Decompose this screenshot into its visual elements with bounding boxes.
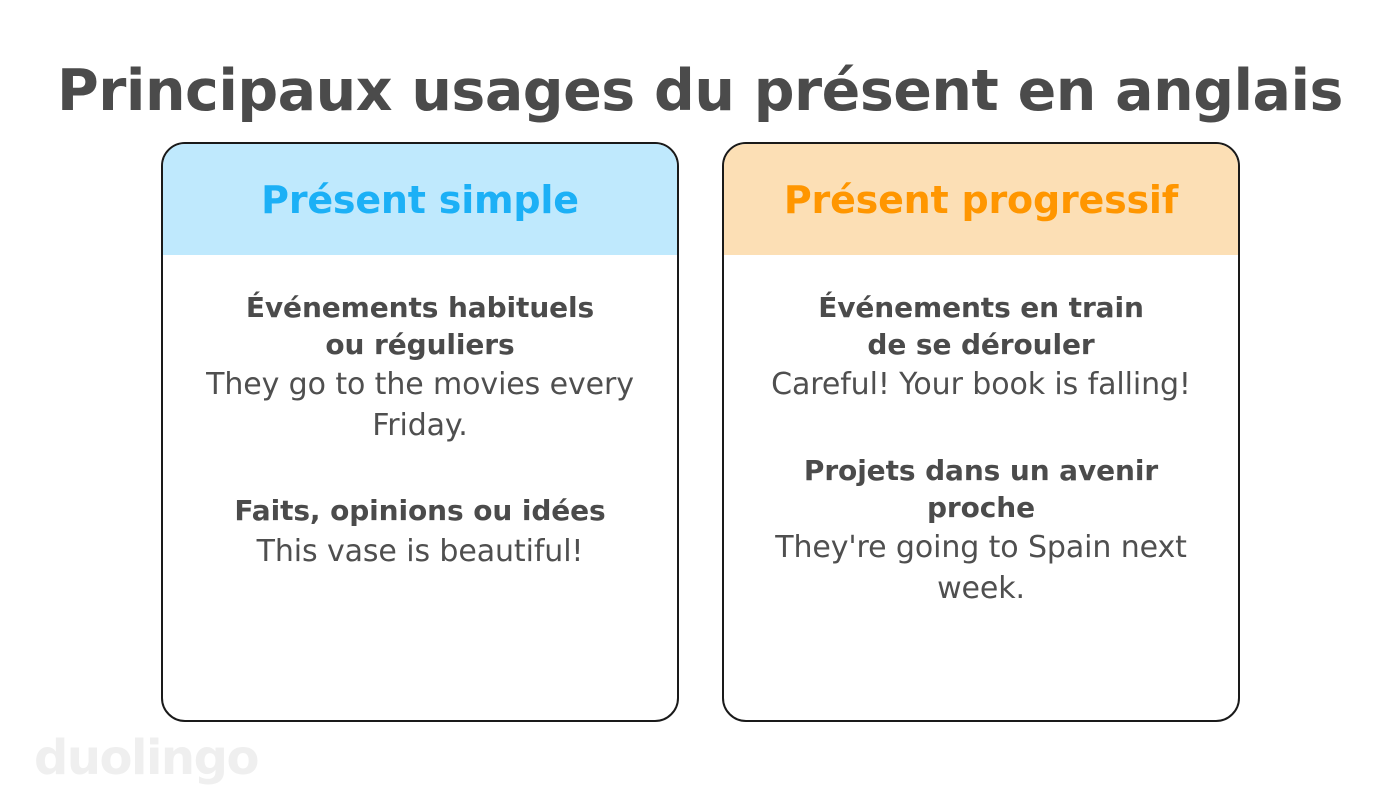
- usage-example: Careful! Your book is falling!: [752, 365, 1210, 406]
- usage-title: Événements habituels ou réguliers: [191, 289, 649, 363]
- card-body-present-progressive: Événements en train de se dérouler Caref…: [724, 255, 1238, 720]
- usage-block: Événements en train de se dérouler Caref…: [752, 289, 1210, 406]
- page-title: Principaux usages du présent en anglais: [0, 60, 1400, 123]
- card-present-progressive: Présent progressif Événements en train d…: [722, 142, 1240, 722]
- usage-title-line-1: Événements habituels: [246, 291, 594, 324]
- usage-example: This vase is beautiful!: [191, 532, 649, 573]
- card-row: Présent simple Événements habituels ou r…: [161, 142, 1240, 722]
- duolingo-wordmark: duolingo: [34, 734, 258, 782]
- usage-example: They go to the movies every Friday.: [191, 365, 649, 446]
- usage-title: Projets dans un avenir proche: [752, 452, 1210, 526]
- card-header-label: Présent progressif: [784, 181, 1178, 219]
- usage-title-line-2: ou réguliers: [325, 328, 514, 361]
- card-body-present-simple: Événements habituels ou réguliers They g…: [163, 255, 677, 720]
- usage-block: Projets dans un avenir proche They're go…: [752, 452, 1210, 609]
- usage-block: Événements habituels ou réguliers They g…: [191, 289, 649, 446]
- card-header-label: Présent simple: [261, 181, 579, 219]
- usage-title-line-1: Faits, opinions ou idées: [234, 494, 605, 527]
- slide-root: Principaux usages du présent en anglais …: [0, 0, 1400, 800]
- usage-title-line-2: de se dérouler: [867, 328, 1094, 361]
- usage-title: Événements en train de se dérouler: [752, 289, 1210, 363]
- usage-title-line-1: Événements en train: [818, 291, 1144, 324]
- card-present-simple: Présent simple Événements habituels ou r…: [161, 142, 679, 722]
- usage-title: Faits, opinions ou idées: [191, 492, 649, 529]
- card-header-present-progressive: Présent progressif: [724, 144, 1238, 255]
- usage-example: They're going to Spain next week.: [752, 528, 1210, 609]
- usage-title-line-1: Projets dans un avenir proche: [804, 454, 1158, 524]
- usage-block: Faits, opinions ou idées This vase is be…: [191, 492, 649, 572]
- card-header-present-simple: Présent simple: [163, 144, 677, 255]
